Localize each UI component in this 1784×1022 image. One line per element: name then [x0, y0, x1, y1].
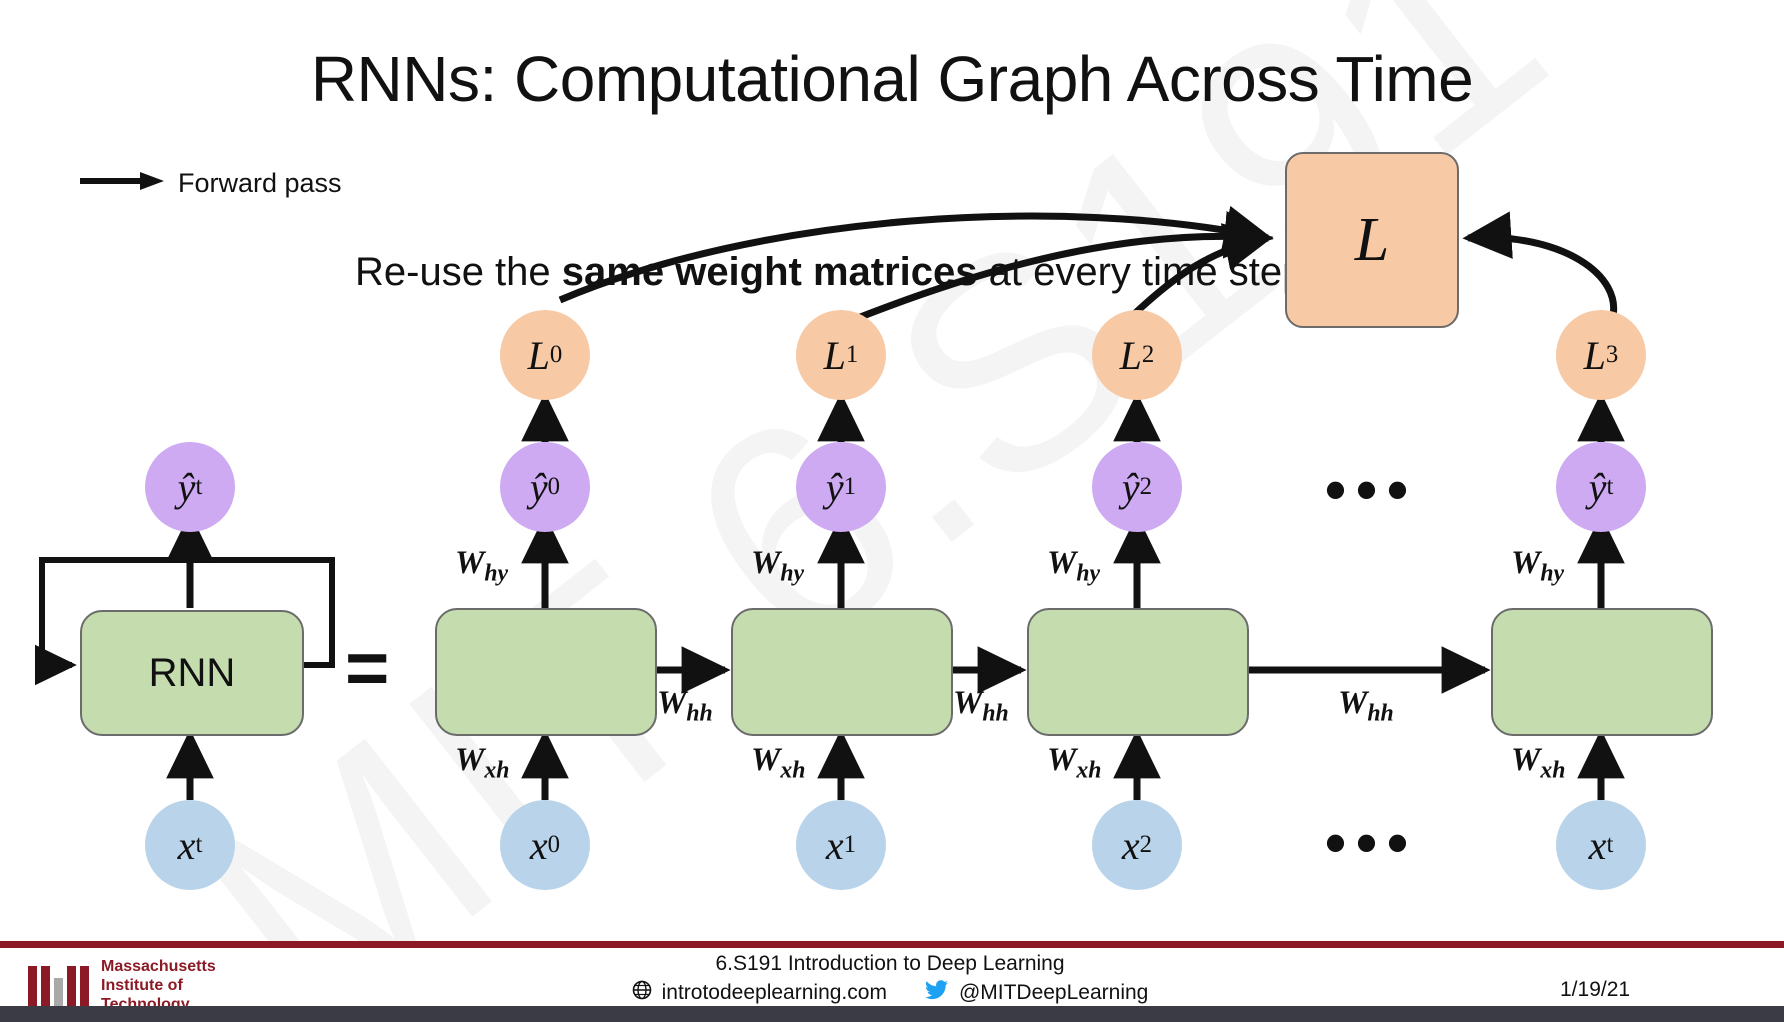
twitter-bird-icon [925, 980, 949, 1006]
folded-input-node[interactable]: xt [145, 800, 235, 890]
folded-rnn-box[interactable]: RNN [80, 610, 304, 736]
footer-date: 1/19/21 [1560, 978, 1760, 1002]
output-sub-1: 1 [844, 473, 856, 501]
input-sub-2: 2 [1140, 831, 1152, 859]
output-sub-0: 0 [548, 473, 560, 501]
input-sub-3: t [1606, 831, 1613, 859]
input-sub-0: 0 [548, 831, 560, 859]
annotation-suffix: at every time step [978, 250, 1305, 294]
slide-canvas: MIT 6.S191 RNNs: Computational Graph Acr… [0, 0, 1784, 1022]
loss-node-0[interactable]: L0 [500, 310, 590, 400]
weight-hh-0: Whh [657, 685, 713, 728]
input-node-3[interactable]: xt [1556, 800, 1646, 890]
weight-hh-2: Whh [1338, 685, 1394, 728]
twitter-handle[interactable]: @MITDeepLearning [959, 981, 1148, 1005]
footer-bottom-bar [0, 1006, 1784, 1022]
annotation-prefix: Re-use the [355, 250, 562, 294]
loss-sub-0: 0 [550, 341, 562, 369]
ellipsis-output-row: ••• [1325, 455, 1418, 524]
weight-xh-0: Wxh [455, 742, 509, 785]
website-link[interactable]: introtodeeplearning.com [662, 981, 887, 1005]
folded-rnn-label: RNN [82, 612, 302, 734]
input-node-0[interactable]: x0 [500, 800, 590, 890]
output-node-0[interactable]: ŷ0 [500, 442, 590, 532]
loss-label-2: L [1120, 332, 1142, 379]
annotation-emphasis: same weight matrices [562, 250, 978, 294]
footer-course-info: 6.S191 Introduction to Deep Learning int… [560, 952, 1220, 1006]
weight-hy-3: Why [1511, 545, 1564, 588]
folded-output-label: ŷ [178, 464, 196, 511]
output-label-0: ŷ [530, 464, 548, 511]
diagram-arrows [0, 0, 1784, 1022]
folded-input-label: x [178, 822, 196, 869]
ellipsis-input-row: ••• [1325, 808, 1418, 877]
globe-icon [632, 980, 652, 1006]
loss-node-2[interactable]: L2 [1092, 310, 1182, 400]
loss-label-3: L [1584, 332, 1606, 379]
weight-hh-1: Whh [953, 685, 1009, 728]
footer-divider [0, 941, 1784, 948]
arrow-L3-to-total [1468, 237, 1614, 320]
weight-hy-2: Why [1047, 545, 1100, 588]
output-sub-2: 2 [1140, 473, 1152, 501]
loss-label-1: L [824, 332, 846, 379]
input-label-1: x [826, 822, 844, 869]
weight-xh-3: Wxh [1511, 742, 1565, 785]
output-label-2: ŷ [1122, 464, 1140, 511]
output-node-1[interactable]: ŷ1 [796, 442, 886, 532]
course-title: 6.S191 Introduction to Deep Learning [560, 952, 1220, 976]
output-node-2[interactable]: ŷ2 [1092, 442, 1182, 532]
output-label-1: ŷ [826, 464, 844, 511]
mit-line-2: Institute of [101, 977, 216, 996]
rnn-cell-3[interactable] [1491, 608, 1713, 736]
loss-sub-3: 3 [1606, 341, 1618, 369]
input-label-0: x [530, 822, 548, 869]
rnn-cell-1[interactable] [731, 608, 953, 736]
input-node-2[interactable]: x2 [1092, 800, 1182, 890]
weight-xh-2: Wxh [1047, 742, 1101, 785]
folded-input-sub: t [195, 831, 202, 859]
loss-sub-2: 2 [1142, 341, 1154, 369]
loss-node-3[interactable]: L3 [1556, 310, 1646, 400]
input-label-3: x [1589, 822, 1607, 869]
rnn-cell-2[interactable] [1027, 608, 1249, 736]
weight-hy-0: Why [455, 545, 508, 588]
equals-sign: = [345, 625, 389, 712]
total-loss-box[interactable]: L [1285, 152, 1459, 328]
mit-logo-mark [28, 964, 89, 1008]
weight-xh-1: Wxh [751, 742, 805, 785]
input-label-2: x [1122, 822, 1140, 869]
folded-output-node[interactable]: ŷt [145, 442, 235, 532]
output-label-3: ŷ [1589, 464, 1607, 511]
rnn-cell-0[interactable] [435, 608, 657, 736]
weight-hy-1: Why [751, 545, 804, 588]
loss-node-1[interactable]: L1 [796, 310, 886, 400]
output-node-3[interactable]: ŷt [1556, 442, 1646, 532]
output-sub-3: t [1606, 473, 1613, 501]
input-sub-1: 1 [844, 831, 856, 859]
input-node-1[interactable]: x1 [796, 800, 886, 890]
loss-label-0: L [528, 332, 550, 379]
loss-sub-1: 1 [846, 341, 858, 369]
total-loss-label: L [1355, 205, 1389, 276]
mit-line-1: Massachusetts [101, 958, 216, 977]
folded-output-sub: t [195, 473, 202, 501]
